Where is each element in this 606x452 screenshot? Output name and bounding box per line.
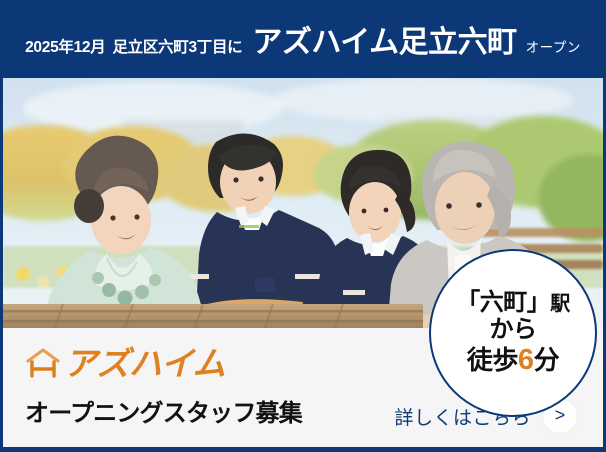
header-text-group: 2025年12月 足立区六町3丁目に アズハイム足立六町 オープン (25, 17, 581, 61)
badge-walk-unit: 分 (534, 345, 560, 375)
brand-logo-text: アズハイム (64, 347, 225, 380)
badge-station-suffix: 駅 (550, 293, 570, 315)
banner-header: 2025年12月 足立区六町3丁目に アズハイム足立六町 オープン (0, 0, 606, 78)
recruitment-banner[interactable]: 2025年12月 足立区六町3丁目に アズハイム足立六町 オープン (0, 0, 606, 452)
badge-line-station: 「六町」駅 (456, 290, 570, 317)
chevron-glyph: > (555, 406, 566, 424)
badge-line-walk: 徒歩6分 (467, 344, 559, 376)
header-open-date: 2025年12月 (25, 35, 105, 57)
badge-walk-label: 徒歩 (467, 345, 518, 375)
badge-station-name: 「六町」 (456, 289, 550, 316)
panel-left-group: アズハイム オープニングスタッフ募集 (25, 342, 302, 428)
recruitment-tagline: オープニングスタッフ募集 (25, 393, 302, 428)
frame-border-left (0, 78, 3, 452)
header-address: 足立区六町3丁目に (112, 35, 242, 57)
badge-line-from: から (490, 317, 537, 344)
badge-walk-minutes: 6 (518, 344, 534, 376)
house-logo-icon (25, 347, 61, 379)
frame-border-bottom (0, 447, 606, 452)
header-facility-name: アズハイム足立六町 (252, 17, 516, 61)
station-access-badge: 「六町」駅 から 徒歩6分 (429, 249, 597, 417)
brand-logo[interactable]: アズハイム (25, 342, 302, 384)
header-open-label: オープン (526, 36, 581, 56)
